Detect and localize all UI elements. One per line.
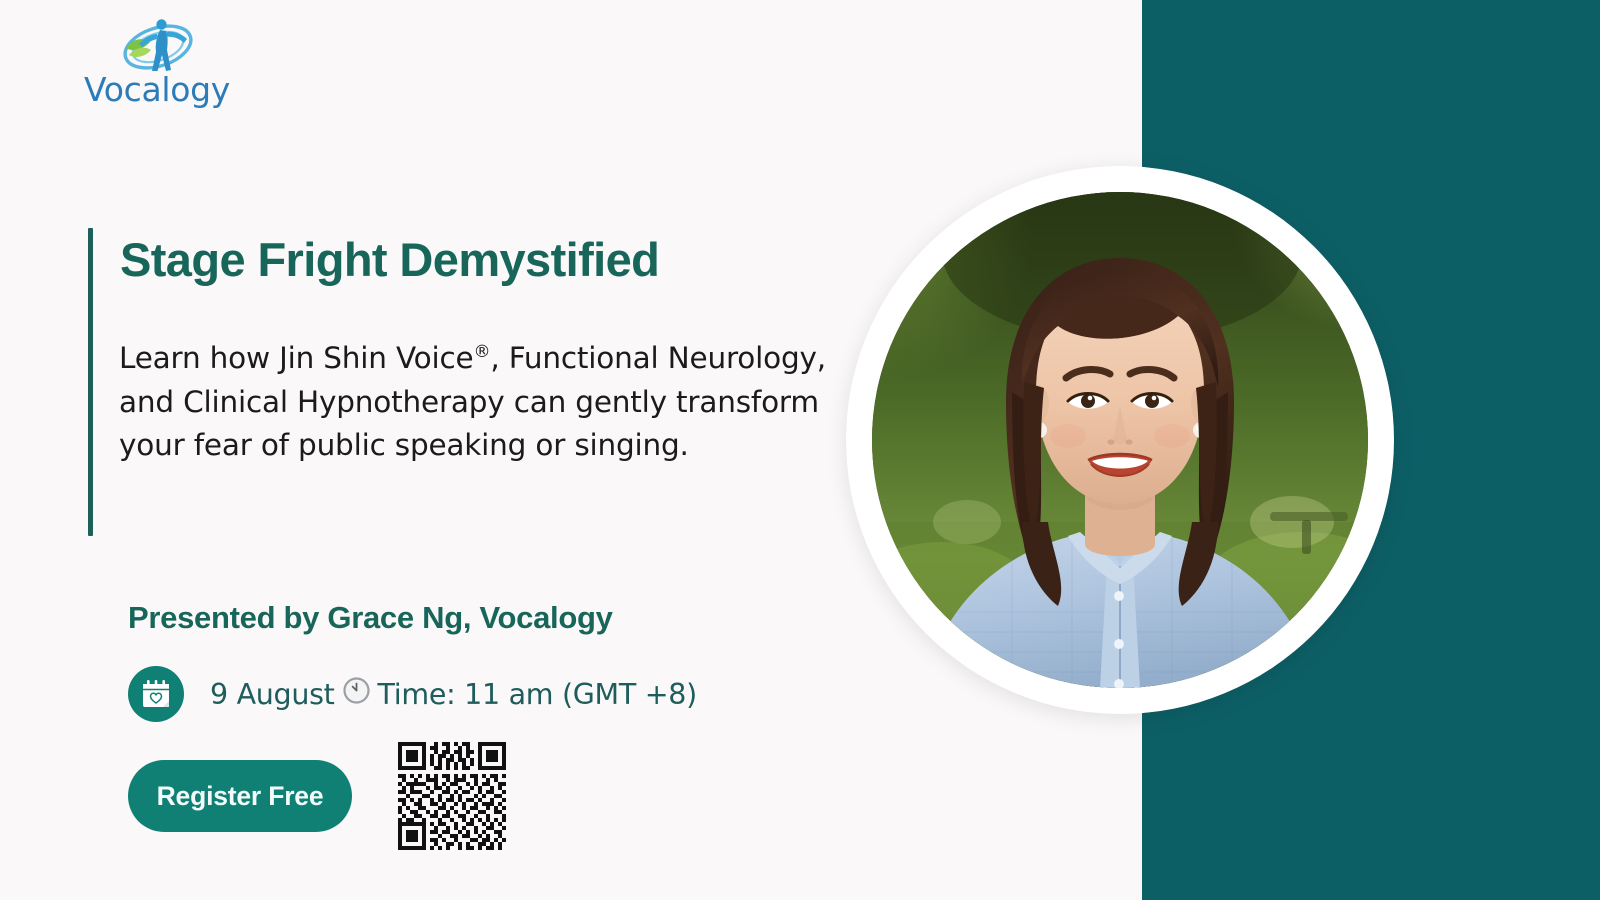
vocalogy-figure-leaf-mark	[116, 14, 200, 76]
page-title: Stage Fright Demystified	[120, 234, 880, 286]
presenter-line: Presented by Grace Ng, Vocalogy	[128, 600, 888, 636]
promo-poster: Vocalogy Stage Fright Demystified Learn …	[0, 0, 1600, 900]
accent-bar	[88, 228, 93, 536]
description-text: Learn how Jin Shin Voice®, Functional Ne…	[119, 337, 849, 468]
registered-mark: ®	[473, 342, 490, 362]
qr-code[interactable]	[394, 738, 510, 854]
brand-wordmark: Vocalogy	[84, 70, 324, 109]
portrait-photo	[872, 192, 1368, 688]
event-datetime-text: 9 August Time: 11 am (GMT +8)	[210, 677, 697, 711]
event-datetime-row: 9 August Time: 11 am (GMT +8)	[128, 664, 697, 724]
description-part-1: Learn how Jin Shin Voice	[119, 341, 473, 375]
presenter-portrait	[846, 166, 1394, 714]
calendar-heart-icon	[128, 666, 184, 722]
brand-logo: Vocalogy	[84, 14, 324, 108]
event-time: Time: 11 am (GMT +8)	[378, 678, 697, 711]
register-free-button[interactable]: Register Free	[128, 760, 352, 832]
clock-icon	[343, 677, 370, 711]
event-date: 9 August	[210, 678, 335, 711]
